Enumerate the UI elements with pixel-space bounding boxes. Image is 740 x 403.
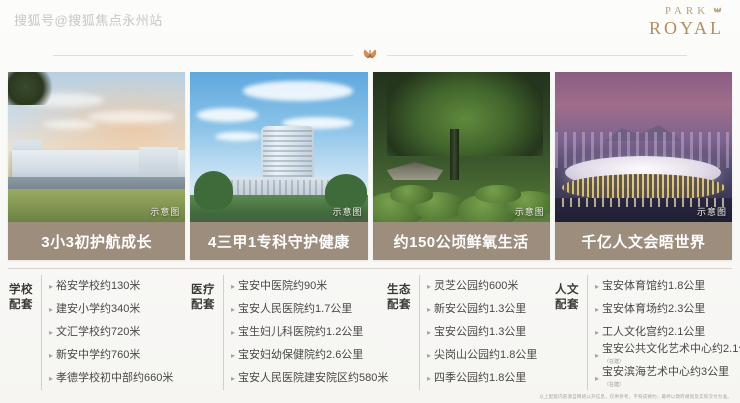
bullet-arrow-icon: ▸ — [595, 280, 599, 293]
list-item: ▸新安中学约760米 — [49, 344, 184, 367]
amenity-group-schools: 学校 配套 ▸裕安学校约130米 ▸建安小学约340米 ▸文汇学校约720米 ▸… — [8, 275, 190, 397]
group-title-line2: 配套 — [386, 298, 412, 313]
list-item: ▸宝安体育场约2.3公里 — [595, 298, 740, 321]
list-item-label: 宝安滨海艺术中心约3公里 — [602, 366, 729, 379]
divider-line-left — [53, 55, 353, 56]
bullet-arrow-icon: ▸ — [231, 303, 235, 316]
feature-card-medical[interactable]: 示意图 4三甲1专科守护健康 — [190, 72, 367, 260]
group-title-line1: 生态 — [386, 283, 412, 298]
feature-card-ecology[interactable]: 示意图 约150公顷鲜氧生活 — [373, 72, 550, 260]
bullet-arrow-icon: ▸ — [427, 349, 431, 362]
bullet-arrow-icon: ▸ — [427, 280, 431, 293]
feature-card-row: 示意图 3小3初护航成长 示意图 4三甲1专科守护健康 — [8, 72, 732, 260]
bullet-arrow-icon: ▸ — [427, 303, 431, 316]
group-title-line1: 人文 — [554, 283, 580, 298]
feature-card-caption: 4三甲1专科守护健康 — [190, 222, 367, 260]
list-item: ▸四季公园约1.8公里 — [427, 367, 548, 390]
list-item-text-block: 宝安滨海艺术中心约3公里 （在建） — [602, 366, 729, 392]
brand-name-line2: ROYAL — [646, 19, 724, 38]
amenity-group-medical: 医疗 配套 ▸宝安中医院约90米 ▸宝安人民医院约1.7公里 ▸宝生妇儿科医院约… — [190, 275, 386, 397]
amenity-list: ▸裕安学校约130米 ▸建安小学约340米 ▸文汇学校约720米 ▸新安中学约7… — [41, 275, 184, 390]
bullet-arrow-icon: ▸ — [49, 280, 53, 293]
amenity-group-ecology: 生态 配套 ▸灵芝公园约600米 ▸新安公园约1.3公里 ▸宝安公园约1.3公里… — [386, 275, 554, 397]
list-item-label: 工人文化宫约2.1公里 — [602, 326, 705, 339]
stadium-dusk-skyline-photo — [555, 72, 732, 222]
feature-card-caption: 3小3初护航成长 — [8, 222, 185, 260]
feature-card-caption: 千亿人文会晤世界 — [555, 222, 732, 260]
list-item-label: 尖岗山公园约1.8公里 — [434, 349, 537, 362]
feature-card-caption: 约150公顷鲜氧生活 — [373, 222, 550, 260]
bullet-arrow-icon: ▸ — [49, 303, 53, 316]
list-item: ▸灵芝公园约600米 — [427, 275, 548, 298]
list-item-label: 宝安妇幼保健院约2.6公里 — [238, 349, 363, 362]
bullet-arrow-icon: ▸ — [231, 326, 235, 339]
amenity-group-title: 人文 配套 — [554, 275, 580, 313]
list-item-label: 宝安体育场约2.3公里 — [602, 303, 705, 316]
schematic-note: 示意图 — [697, 205, 727, 218]
bullet-arrow-icon: ▸ — [231, 280, 235, 293]
bullet-arrow-icon: ▸ — [231, 372, 235, 385]
list-item-label: 裕安学校约130米 — [56, 280, 140, 293]
schematic-note: 示意图 — [515, 205, 545, 218]
list-item: ▸裕安学校约130米 — [49, 275, 184, 298]
group-title-line1: 学校 — [8, 283, 34, 298]
amenity-group-title: 医疗 配套 — [190, 275, 216, 313]
list-item: ▸新安公园约1.3公里 — [427, 298, 548, 321]
list-item: ▸工人文化宫约2.1公里 — [595, 321, 740, 344]
list-item-label: 文汇学校约720米 — [56, 326, 140, 339]
brand-logo: PARK ROYAL — [646, 6, 724, 37]
promo-page: 搜狐号@搜狐焦点永州站 PARK ROYAL — [0, 0, 740, 403]
panel-divider-rule — [8, 268, 732, 269]
list-item-label: 宝安中医院约90米 — [238, 280, 327, 293]
schematic-note: 示意图 — [332, 205, 362, 218]
schematic-note: 示意图 — [150, 205, 180, 218]
list-item-label: 灵芝公园约600米 — [434, 280, 518, 293]
list-item-label: 宝安人民医院约1.7公里 — [238, 303, 352, 316]
school-campus-sunset-photo — [8, 72, 185, 222]
list-item: ▸宝安中医院约90米 — [231, 275, 388, 298]
list-item-subnote: （在建） — [604, 379, 729, 392]
amenity-list: ▸宝安体育馆约1.8公里 ▸宝安体育场约2.3公里 ▸工人文化宫约2.1公里 ▸… — [587, 275, 740, 390]
bullet-arrow-icon: ▸ — [49, 372, 53, 385]
bullet-arrow-icon: ▸ — [231, 349, 235, 362]
group-title-line2: 配套 — [554, 298, 580, 313]
list-item: ▸宝安人民医院建安院区约580米 — [231, 367, 388, 390]
amenities-panel: 学校 配套 ▸裕安学校约130米 ▸建安小学约340米 ▸文汇学校约720米 ▸… — [8, 275, 732, 397]
amenity-group-culture: 人文 配套 ▸宝安体育馆约1.8公里 ▸宝安体育场约2.3公里 ▸工人文化宫约2… — [554, 275, 732, 397]
list-item: ▸ 宝安公共文化艺术中心约2.1公里 （在建） — [595, 344, 740, 367]
list-item: ▸宝安公园约1.3公里 — [427, 321, 548, 344]
bullet-arrow-icon: ▸ — [49, 349, 53, 362]
list-item: ▸宝安妇幼保健院约2.6公里 — [231, 344, 388, 367]
list-item: ▸孝德学校初中部约660米 — [49, 367, 184, 390]
butterfly-icon — [713, 6, 722, 19]
list-item: ▸尖岗山公园约1.8公里 — [427, 344, 548, 367]
bullet-arrow-icon: ▸ — [595, 326, 599, 339]
amenity-group-title: 学校 配套 — [8, 275, 34, 313]
green-garden-park-photo — [373, 72, 550, 222]
watermark-text: 搜狐号@搜狐焦点永州站 — [14, 10, 163, 29]
bullet-arrow-icon: ▸ — [595, 372, 599, 385]
list-item-label: 四季公园约1.8公里 — [434, 372, 526, 385]
list-item: ▸建安小学约340米 — [49, 298, 184, 321]
amenity-list: ▸灵芝公园约600米 ▸新安公园约1.3公里 ▸宝安公园约1.3公里 ▸尖岗山公… — [419, 275, 548, 390]
feature-card-culture[interactable]: 示意图 千亿人文会晤世界 — [555, 72, 732, 260]
bullet-arrow-icon: ▸ — [427, 372, 431, 385]
hospital-tower-blue-sky-photo — [190, 72, 367, 222]
list-item: ▸宝安人民医院约1.7公里 — [231, 298, 388, 321]
list-item-label: 孝德学校初中部约660米 — [56, 372, 173, 385]
divider-line-right — [387, 55, 687, 56]
feature-card-schools[interactable]: 示意图 3小3初护航成长 — [8, 72, 185, 260]
amenity-list: ▸宝安中医院约90米 ▸宝安人民医院约1.7公里 ▸宝生妇儿科医院约1.2公里 … — [223, 275, 388, 390]
disclaimer-text: 以上配套内容源自网络公开信息，仅供参考，不构成要约，最终以政府规划及实际交付为准… — [539, 394, 732, 400]
list-item-label: 新安公园约1.3公里 — [434, 303, 526, 316]
bullet-arrow-icon: ▸ — [427, 326, 431, 339]
group-title-line1: 医疗 — [190, 283, 216, 298]
list-item: ▸文汇学校约720米 — [49, 321, 184, 344]
list-item: ▸宝安体育馆约1.8公里 — [595, 275, 740, 298]
list-item-label: 宝生妇儿科医院约1.2公里 — [238, 326, 363, 339]
section-divider — [0, 45, 740, 65]
bullet-arrow-icon: ▸ — [595, 303, 599, 316]
bullet-arrow-icon: ▸ — [49, 326, 53, 339]
list-item-label: 建安小学约340米 — [56, 303, 140, 316]
list-item: ▸ 宝安滨海艺术中心约3公里 （在建） — [595, 367, 740, 390]
butterfly-icon — [363, 48, 377, 62]
list-item-label: 宝安人民医院建安院区约580米 — [238, 372, 388, 385]
list-item-label: 宝安公园约1.3公里 — [434, 326, 526, 339]
group-title-line2: 配套 — [8, 298, 34, 313]
list-item-label: 新安中学约760米 — [56, 349, 140, 362]
list-item-label: 宝安公共文化艺术中心约2.1公里 — [602, 343, 740, 356]
list-item-label: 宝安体育馆约1.8公里 — [602, 280, 705, 293]
bullet-arrow-icon: ▸ — [595, 349, 599, 362]
list-item: ▸宝生妇儿科医院约1.2公里 — [231, 321, 388, 344]
group-title-line2: 配套 — [190, 298, 216, 313]
amenity-group-title: 生态 配套 — [386, 275, 412, 313]
